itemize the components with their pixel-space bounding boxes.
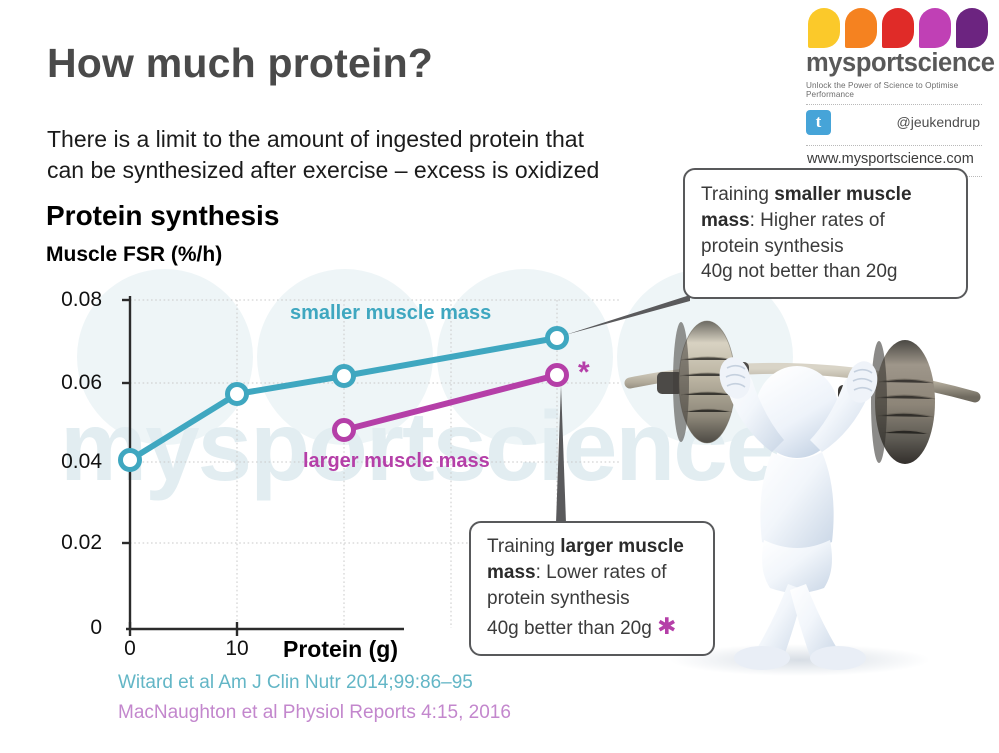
callout-top-bold-1: smaller muscle [774, 184, 911, 205]
x-tick-10: 10 [207, 637, 267, 661]
series-label-smaller-muscle-mass: smaller muscle mass [290, 302, 491, 325]
citation-macnaughton: MacNaughton et al Physiol Reports 4:15, … [118, 702, 511, 724]
callout-top-text-pre: Training [701, 184, 774, 205]
callout-top-line-1: Training smaller muscle [701, 182, 952, 208]
y-tick-0.08: 0.08 [32, 288, 102, 312]
callout-bottom-line-4: 40g better than 20g ✱ [487, 611, 699, 642]
callout-bottom-text-post: : Lower rates of [536, 562, 667, 583]
callout-top-text-post: : Higher rates of [750, 210, 885, 231]
callout-asterisk-icon: ✱ [657, 613, 676, 639]
y-tick-0.04: 0.04 [32, 450, 102, 474]
callout-bottom-text-pre: Training [487, 536, 560, 557]
callout-leader-top [565, 295, 690, 335]
callout-bottom-bold-2: mass [487, 562, 536, 583]
callout-smaller-muscle-mass: Training smaller muscle mass: Higher rat… [683, 168, 968, 299]
y-tick-0.02: 0.02 [32, 531, 102, 555]
callout-larger-muscle-mass: Training larger muscle mass: Lower rates… [469, 521, 715, 656]
x-tick-0: 0 [100, 637, 160, 661]
callout-top-line-2: mass: Higher rates of [701, 208, 952, 234]
callout-bottom-line-1: Training larger muscle [487, 534, 699, 560]
callout-top-bold-2: mass [701, 210, 750, 231]
chart-x-axis-title: Protein (g) [283, 636, 398, 663]
callout-top-line-3: protein synthesis [701, 234, 952, 260]
callout-bottom-text-4: 40g better than 20g [487, 618, 652, 639]
y-tick-0: 0 [32, 616, 102, 640]
callout-bottom-line-2: mass: Lower rates of [487, 560, 699, 586]
y-tick-0.06: 0.06 [32, 371, 102, 395]
callout-bottom-line-3: protein synthesis [487, 586, 699, 612]
series-label-larger-muscle-mass: larger muscle mass [303, 450, 490, 473]
citation-witard: Witard et al Am J Clin Nutr 2014;99:86–9… [118, 672, 473, 694]
significance-asterisk: * [578, 358, 590, 388]
slide-canvas: mysportscience How much protein? There i… [0, 0, 999, 753]
callout-bottom-bold-1: larger muscle [560, 536, 684, 557]
callout-top-line-4: 40g not better than 20g [701, 259, 952, 285]
